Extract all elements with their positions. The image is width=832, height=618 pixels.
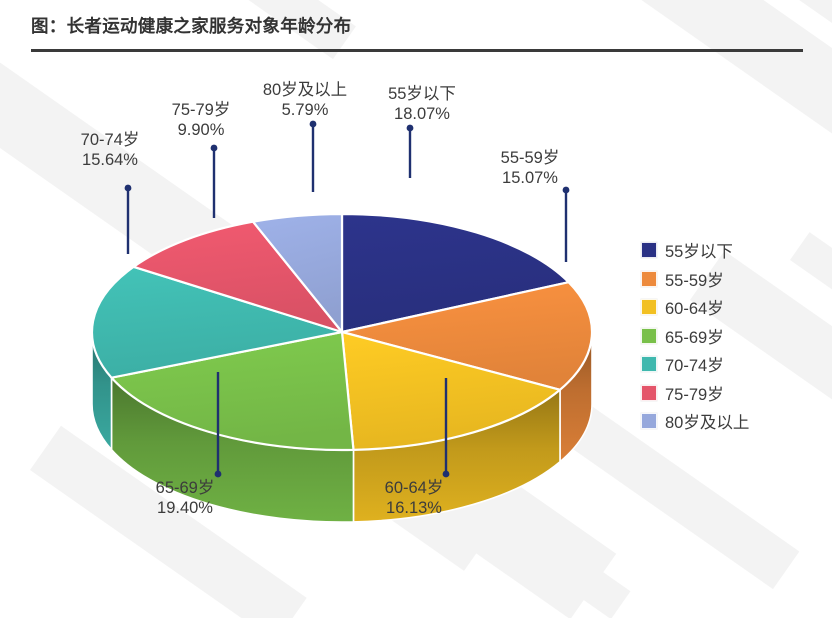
callout-value: 5.79%	[245, 100, 365, 120]
legend-swatch-icon	[641, 328, 657, 344]
callout-label: 60-64岁	[354, 478, 474, 498]
slice-callout: 80岁及以上5.79%	[245, 80, 365, 120]
pie-top-faces: 55岁以下 18.07%55-59岁 15.07%60-64岁 16.13%65…	[92, 214, 592, 450]
legend-label: 80岁及以上	[665, 409, 749, 433]
legend-item[interactable]: 70-74岁	[641, 350, 749, 379]
slice-callout: 65-69岁19.40%	[125, 478, 245, 518]
callout-label: 80岁及以上	[245, 80, 365, 100]
callout-label: 75-79岁	[141, 100, 261, 120]
slice-callout: 55岁以下18.07%	[362, 84, 482, 124]
callout-label: 55-59岁	[470, 148, 590, 168]
callout-value: 15.07%	[470, 168, 590, 188]
slice-callout: 60-64岁16.13%	[354, 478, 474, 518]
leader-dot	[443, 471, 450, 478]
leader-dot	[310, 121, 317, 128]
chart-legend: 55岁以下55-59岁60-64岁65-69岁70-74岁75-79岁80岁及以…	[641, 236, 749, 436]
callout-label: 65-69岁	[125, 478, 245, 498]
leader-dot	[215, 471, 222, 478]
callout-value: 19.40%	[125, 498, 245, 518]
title-divider	[31, 49, 803, 52]
legend-item[interactable]: 65-69岁	[641, 322, 749, 351]
legend-label: 55-59岁	[665, 267, 724, 291]
legend-item[interactable]: 75-79岁	[641, 379, 749, 408]
legend-item[interactable]: 55岁以下	[641, 236, 749, 265]
legend-swatch-icon	[641, 356, 657, 372]
legend-swatch-icon	[641, 271, 657, 287]
leader-dot	[407, 125, 414, 132]
legend-item[interactable]: 55-59岁	[641, 265, 749, 294]
legend-label: 55岁以下	[665, 238, 733, 262]
chart-header: 图：长者运动健康之家服务对象年龄分布	[0, 0, 832, 62]
callout-value: 18.07%	[362, 104, 482, 124]
legend-label: 75-79岁	[665, 381, 724, 405]
legend-swatch-icon	[641, 299, 657, 315]
leader-dot	[211, 145, 218, 152]
legend-swatch-icon	[641, 385, 657, 401]
legend-label: 65-69岁	[665, 324, 724, 348]
page-title: 图：长者运动健康之家服务对象年龄分布	[31, 13, 351, 38]
legend-label: 70-74岁	[665, 352, 724, 376]
callout-value: 15.64%	[50, 150, 170, 170]
callout-label: 55岁以下	[362, 84, 482, 104]
leader-dot	[125, 185, 132, 192]
legend-swatch-icon	[641, 242, 657, 258]
callout-value: 16.13%	[354, 498, 474, 518]
legend-item[interactable]: 60-64岁	[641, 293, 749, 322]
legend-item[interactable]: 80岁及以上	[641, 407, 749, 436]
legend-swatch-icon	[641, 413, 657, 429]
callout-value: 9.90%	[141, 120, 261, 140]
slice-callout: 55-59岁15.07%	[470, 148, 590, 188]
slice-callout: 75-79岁9.90%	[141, 100, 261, 140]
legend-label: 60-64岁	[665, 295, 724, 319]
